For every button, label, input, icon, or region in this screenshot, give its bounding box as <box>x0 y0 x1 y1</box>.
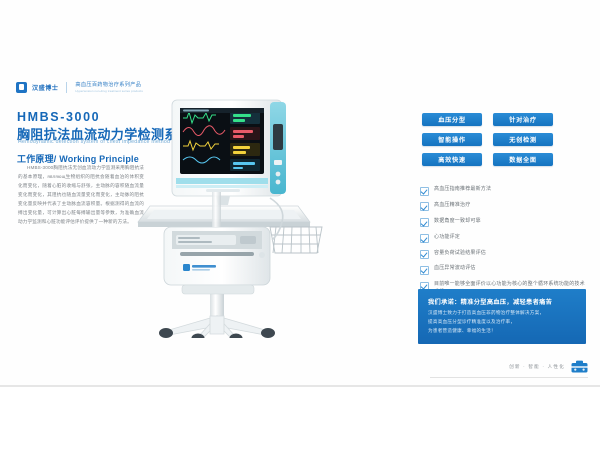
promise-title: 我们承诺：精准分型高血压，减轻患者痛苦 <box>428 297 552 306</box>
footer-slogan: 创新 · 智能 · 人性化 <box>509 364 565 370</box>
company-mark-icon <box>571 360 588 373</box>
feature-pill-smart-operation[interactable]: 智能操作 <box>422 133 482 146</box>
checklist-item-label: 血压异常波动评估 <box>434 265 476 273</box>
checklist-item-label: 数据角度一致却可靠 <box>434 218 481 226</box>
footer-divider <box>430 377 588 378</box>
checklist-item: 高血压指南推荐最新方法 <box>420 186 586 196</box>
page-footer: 创新 · 智能 · 人性化 <box>509 360 588 373</box>
checklist-item: 数据角度一致却可靠 <box>420 218 586 228</box>
promise-panel: 我们承诺：精准分型高血压，减轻患者痛苦 汉盛博士致力于打造高血压非药物治疗整体解… <box>418 289 586 344</box>
benefit-checklist: 高血压指南推荐最新方法 高血压精准治疗 数据角度一致却可靠 心功能评定 容量负荷… <box>420 186 586 303</box>
check-icon <box>420 234 429 243</box>
feature-pill-efficient-fast[interactable]: 高效快速 <box>422 153 482 166</box>
checklist-item: 容量负荷试验结果评估 <box>420 250 586 260</box>
check-icon <box>420 187 429 196</box>
feature-pill-comprehensive-data[interactable]: 数据全面 <box>493 153 553 166</box>
hmbs-3000-device-photo <box>120 88 355 338</box>
feature-pill-group: 血压分型 针对治疗 智能操作 无创检测 高效快速 数据全面 <box>422 113 553 166</box>
feature-pill-blood-pressure-typing[interactable]: 血压分型 <box>422 113 482 126</box>
check-icon <box>420 250 429 259</box>
brand-divider <box>66 82 67 93</box>
check-icon <box>420 266 429 275</box>
brand-name: 汉盛博士 <box>32 83 58 92</box>
checklist-item: 高血压精准治疗 <box>420 202 586 212</box>
product-model: HMBS-3000 <box>17 110 100 124</box>
brand-tagline-cn: 高血压百药物治疗系列产品 <box>75 81 143 88</box>
company-logo-icon <box>16 82 27 93</box>
promise-body: 汉盛博士致力于打造高血压非药物治疗整体解决方案， 提高高血压分型诊疗精准度以及治… <box>428 308 578 336</box>
checklist-item-label: 高血压指南推荐最新方法 <box>434 186 491 194</box>
checklist-item-label: 心功能评定 <box>434 234 460 242</box>
feature-pill-noninvasive-detection[interactable]: 无创检测 <box>493 133 553 146</box>
checklist-item: 心功能评定 <box>420 234 586 244</box>
feature-pill-targeted-therapy[interactable]: 针对治疗 <box>493 113 553 126</box>
check-icon <box>420 218 429 227</box>
brochure-page: 汉盛博士 高血压百药物治疗系列产品 Hypertension non-drug … <box>0 0 600 385</box>
checklist-item: 血压异常波动评估 <box>420 265 586 275</box>
page-outer-margin <box>0 387 600 450</box>
checklist-item-label: 高血压精准治疗 <box>434 202 470 210</box>
check-icon <box>420 202 429 211</box>
checklist-item-label: 容量负荷试验结果评估 <box>434 250 486 258</box>
